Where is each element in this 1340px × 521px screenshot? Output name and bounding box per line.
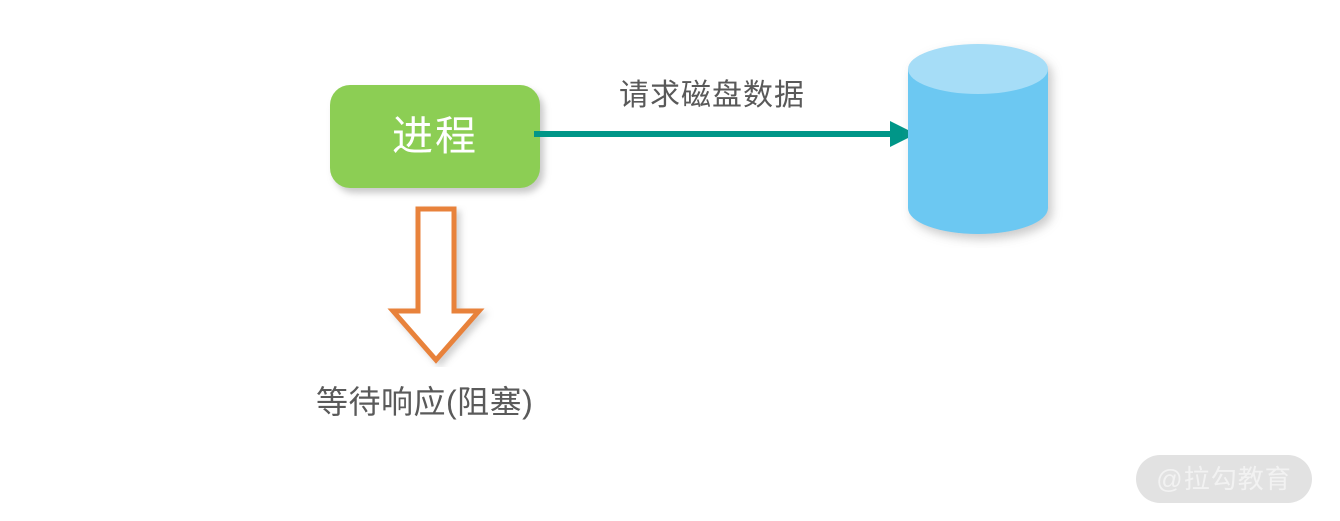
- edge-request-label: 请求磁盘数据: [619, 79, 805, 114]
- edge-request-arrow: [534, 112, 916, 156]
- watermark-badge: @拉勾教育: [1136, 455, 1312, 503]
- arrow-down-block-icon: [384, 205, 494, 367]
- node-process-label: 进程: [392, 116, 478, 157]
- arrow-right-icon: [534, 112, 916, 156]
- edge-wait-arrow: [384, 205, 494, 367]
- watermark-text: @拉勾教育: [1156, 466, 1291, 492]
- diagram-canvas: 进程 请求磁盘数据: [0, 0, 1340, 521]
- node-process[interactable]: 进程: [330, 85, 540, 188]
- node-disk[interactable]: [893, 38, 1073, 248]
- database-cylinder-icon: [893, 38, 1073, 248]
- edge-wait-label: 等待响应(阻塞): [316, 383, 533, 421]
